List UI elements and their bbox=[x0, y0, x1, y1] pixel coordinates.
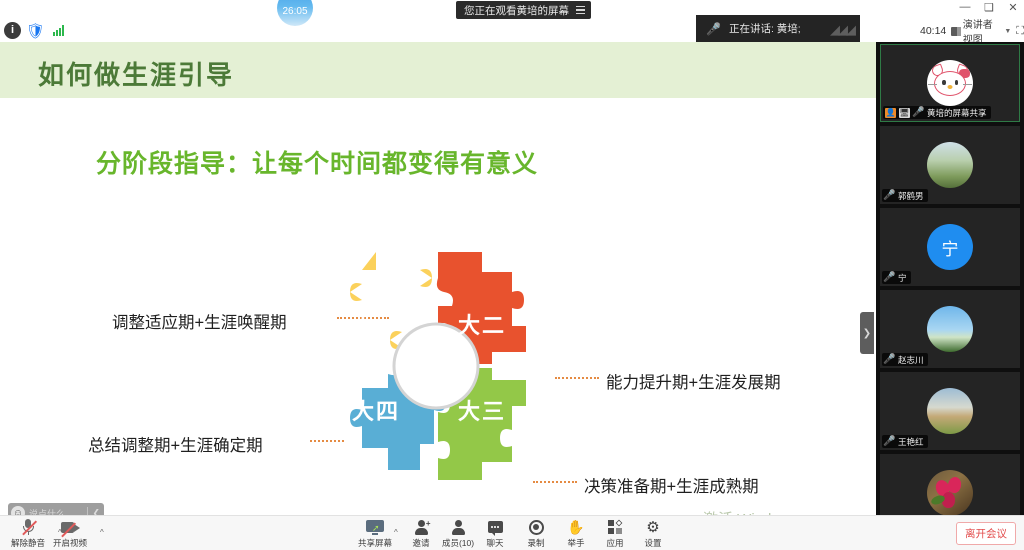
mic-muted-icon bbox=[22, 519, 35, 536]
participant-tile-1[interactable]: 🎤 郭鹤男 bbox=[880, 126, 1020, 204]
participant-tile-0[interactable]: 👤 🖥 🎤 黄培的屏幕共享 bbox=[880, 44, 1020, 122]
signal-bars-icon[interactable] bbox=[50, 22, 67, 39]
callout-bottom-right: 决策准备期+生涯成熟期 bbox=[584, 473, 759, 497]
toolbar-raise-hand-label: 举手 bbox=[567, 538, 584, 548]
toolbar-settings-button[interactable]: ⚙ 设置 bbox=[625, 518, 681, 549]
video-options-caret-icon[interactable]: ^ bbox=[100, 528, 104, 537]
participant-name: 赵志川 bbox=[898, 354, 924, 366]
callout-bottom-left: 总结调整期+生涯确定期 bbox=[88, 432, 263, 456]
windows-activation-watermark: 激活 Windows 转到"设置"以激活 Windows。 bbox=[703, 508, 840, 515]
divider bbox=[87, 507, 88, 515]
settings-icon: ⚙ bbox=[646, 520, 659, 535]
meeting-control-bar: 40:14 演讲者视图 ▼ ⛶ bbox=[920, 20, 1024, 42]
participant-name: 郭鹤男 bbox=[898, 190, 924, 202]
participant-name: 王艳红 bbox=[898, 436, 924, 448]
avatar bbox=[927, 142, 973, 188]
browser-status-icons: i 🛡 bbox=[4, 22, 67, 39]
annotation-comment-bar[interactable]: ☺ 说点什么... ❮ bbox=[8, 503, 104, 515]
slide-body: 调整适应期+生涯唤醒期 能力提升期+生涯发展期 总结调整期+生涯确定期 决策准备… bbox=[0, 98, 876, 515]
viewing-notice: 您正在观看黄培的屏幕 bbox=[456, 1, 591, 19]
viewing-notice-text: 您正在观看黄培的屏幕 bbox=[464, 3, 569, 18]
shield-icon[interactable]: 🛡 bbox=[27, 22, 44, 39]
meeting-duration: 40:14 bbox=[920, 25, 946, 37]
record-icon bbox=[529, 520, 544, 535]
restore-icon[interactable]: ❑ bbox=[982, 1, 996, 14]
dotted-connector-top-right bbox=[555, 377, 599, 379]
share-screen-icon: ➚ bbox=[366, 520, 384, 534]
speaking-label: 正在讲话: 黄培; bbox=[729, 21, 801, 36]
meeting-toolbar: 解除静音 ^ 开启视频 ^ ➚ 共享屏幕 ^ + 邀请 成员(10) 聊天 录制 bbox=[0, 515, 1024, 550]
toolbar-apps-label: 应用 bbox=[606, 538, 623, 548]
avatar bbox=[927, 306, 973, 352]
chevron-right-icon[interactable]: ❯ bbox=[860, 312, 874, 354]
participants-icon bbox=[451, 520, 466, 535]
participant-rail[interactable]: 👤 🖥 🎤 黄培的屏幕共享 🎤 郭鹤男 宁 🎤 宁 bbox=[876, 42, 1024, 515]
fullscreen-icon[interactable]: ⛶ bbox=[1016, 25, 1024, 38]
info-icon[interactable]: i bbox=[4, 22, 21, 39]
audio-wave-icon: ◢◢◢ bbox=[830, 22, 854, 38]
toolbar-share-screen-label: 共享屏幕 bbox=[358, 538, 392, 548]
participant-namebar: 🎤 宁 bbox=[882, 271, 911, 284]
participant-name: 宁 bbox=[898, 272, 907, 284]
avatar-initial: 宁 bbox=[942, 235, 959, 260]
participant-namebar: 👤 🖥 🎤 黄培的屏幕共享 bbox=[883, 106, 991, 119]
toolbar-start-video-button[interactable]: 开启视频 bbox=[42, 518, 98, 549]
toolbar-invite-label: 邀请 bbox=[412, 538, 429, 548]
puzzle-label-year2: 大二 bbox=[458, 308, 506, 340]
speaker-view-icon bbox=[951, 27, 959, 36]
host-icon: 👤 bbox=[885, 108, 896, 118]
window-control-buttons: — ❑ ✕ bbox=[958, 1, 1020, 14]
toolbar-unmute-label: 解除静音 bbox=[11, 538, 45, 548]
participant-namebar: 🎤 赵志川 bbox=[882, 353, 928, 366]
smiley-icon[interactable]: ☺ bbox=[11, 506, 25, 515]
participant-namebar: 🎤 郭鹤男 bbox=[882, 189, 928, 202]
speaking-banner: 🎤 正在讲话: 黄培; ◢◢◢ bbox=[696, 15, 860, 42]
toolbar-record-label: 录制 bbox=[527, 538, 544, 548]
toolbar-start-video-label: 开启视频 bbox=[53, 538, 87, 548]
minimize-icon[interactable]: — bbox=[958, 1, 972, 14]
avatar bbox=[927, 388, 973, 434]
screen-share-icon: 🖥 bbox=[899, 108, 910, 118]
chevron-left-icon[interactable]: ❮ bbox=[92, 508, 101, 516]
zoom-meeting-window: i 🛡 26:05 您正在观看黄培的屏幕 — ❑ ✕ 🎤 正在讲话: 黄培; ◢… bbox=[0, 0, 1024, 550]
timer-value: 26:05 bbox=[282, 6, 307, 17]
puzzle-label-year1: 大一 bbox=[352, 308, 400, 340]
mic-on-icon: 🎤 bbox=[913, 108, 924, 118]
mic-muted-icon: 🎤 bbox=[884, 273, 895, 283]
watermark-line-1: 激活 Windows bbox=[703, 508, 840, 515]
chat-icon bbox=[488, 521, 503, 533]
toolbar-chat-label: 聊天 bbox=[486, 538, 503, 548]
avatar bbox=[927, 470, 973, 516]
invite-icon: + bbox=[414, 520, 429, 535]
mic-muted-icon: 🎤 bbox=[884, 355, 895, 365]
puzzle-label-year4: 大四 bbox=[352, 394, 400, 426]
menu-icon[interactable] bbox=[576, 6, 585, 15]
puzzle-diagram: 大一 大二 大四 大三 bbox=[316, 248, 556, 488]
callout-top-left: 调整适应期+生涯唤醒期 bbox=[112, 309, 287, 333]
speaking-mic-icon: 🎤 bbox=[706, 22, 721, 36]
avatar bbox=[927, 60, 973, 106]
puzzle-label-year3: 大三 bbox=[458, 394, 506, 426]
chevron-down-icon[interactable]: ▼ bbox=[1004, 28, 1011, 35]
participant-namebar: 🎤 王艳红 bbox=[882, 435, 928, 448]
raise-hand-icon: ✋ bbox=[567, 520, 584, 534]
apps-icon bbox=[608, 520, 622, 534]
camera-off-icon bbox=[61, 521, 80, 534]
toolbar-settings-label: 设置 bbox=[644, 538, 661, 548]
participant-tile-2[interactable]: 宁 🎤 宁 bbox=[880, 208, 1020, 286]
close-icon[interactable]: ✕ bbox=[1006, 1, 1020, 14]
avatar: 宁 bbox=[927, 224, 973, 270]
screen-share-timer: 26:05 bbox=[277, 0, 313, 26]
slide-header-band: 如何做生涯引导 bbox=[0, 42, 876, 98]
mic-muted-icon: 🎤 bbox=[884, 437, 895, 447]
callout-top-right: 能力提升期+生涯发展期 bbox=[606, 369, 781, 393]
mic-muted-icon: 🎤 bbox=[884, 191, 895, 201]
participant-tile-3[interactable]: 🎤 赵志川 bbox=[880, 290, 1020, 368]
leave-meeting-button[interactable]: 离开会议 bbox=[956, 522, 1016, 545]
participant-name: 黄培的屏幕共享 bbox=[927, 107, 987, 119]
comment-input[interactable]: 说点什么... bbox=[29, 507, 83, 516]
participant-tile-4[interactable]: 🎤 王艳红 bbox=[880, 372, 1020, 450]
shared-screen-slide: 如何做生涯引导 分阶段指导：让每个时间都变得有意义 调整适应期+生涯唤醒期 能力… bbox=[0, 42, 876, 515]
slide-title: 如何做生涯引导 bbox=[38, 55, 234, 92]
